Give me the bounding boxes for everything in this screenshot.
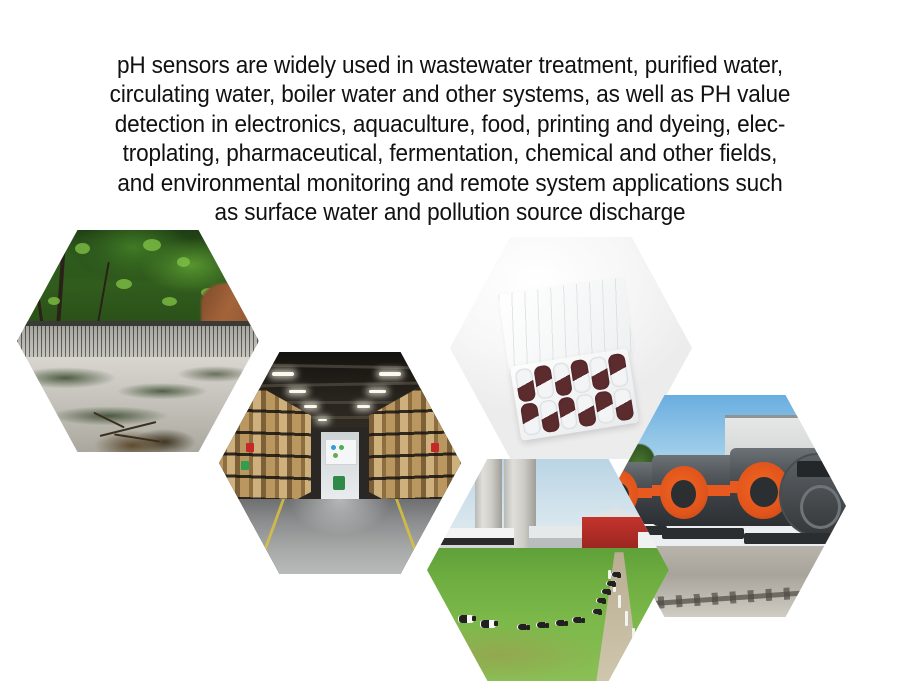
cow (601, 589, 609, 594)
cow (596, 598, 604, 603)
weir-crest (17, 321, 259, 326)
capsule (613, 387, 635, 422)
fence-post (625, 611, 628, 626)
exit-sign-red (431, 443, 439, 452)
leaf-cluster (48, 297, 60, 305)
cow (458, 615, 474, 623)
leaf-cluster (116, 279, 132, 289)
exit-sign-green (241, 461, 249, 470)
ceiling-light (289, 390, 306, 393)
ceiling-light (318, 419, 327, 421)
cow (606, 581, 614, 586)
warehouse-floor (219, 499, 461, 574)
livestock-shed (432, 528, 514, 550)
ceiling-light (304, 405, 317, 408)
boiler-skid (662, 528, 744, 539)
warehouse-photo (219, 352, 461, 574)
warehouse-sign (325, 439, 356, 465)
hexagon-collage (0, 212, 900, 692)
surface-water-photo (17, 230, 259, 452)
hex-tile-warehouse[interactable] (219, 352, 461, 574)
farm-building (529, 526, 582, 548)
cow (555, 620, 566, 626)
capsule (539, 399, 561, 434)
cow (536, 622, 547, 628)
ceiling-light (379, 372, 401, 376)
leaf-cluster (162, 297, 177, 306)
hex-tile-surface-water[interactable] (17, 230, 259, 452)
boiler-burner-face (660, 466, 708, 519)
cow (517, 624, 528, 630)
sign-dot (331, 445, 336, 450)
forklift (333, 476, 345, 489)
page-title: pH sensors are widely used in wastewater… (73, 51, 827, 228)
sign-dot (339, 445, 344, 450)
control-panel (797, 461, 838, 477)
exit-sign-red (246, 443, 254, 452)
capsule (533, 364, 555, 399)
capsule (607, 353, 629, 388)
cow (480, 620, 496, 628)
leaf-cluster (177, 257, 190, 267)
ceiling-light (272, 372, 294, 376)
ceiling-beam (272, 401, 408, 404)
sign-dot (333, 453, 338, 458)
boiler-skid (744, 533, 831, 544)
cow (592, 609, 600, 614)
leaf-cluster (143, 239, 161, 251)
fence-post (618, 595, 621, 608)
ceiling-light (357, 405, 370, 408)
concrete-weir (17, 321, 259, 359)
fence-post (639, 649, 642, 668)
boiler-front-cap (779, 453, 846, 537)
fence-post (632, 628, 635, 645)
ceiling-light (369, 390, 386, 393)
cow (611, 572, 619, 577)
inspection-hatch (800, 485, 841, 529)
cow (572, 617, 583, 623)
